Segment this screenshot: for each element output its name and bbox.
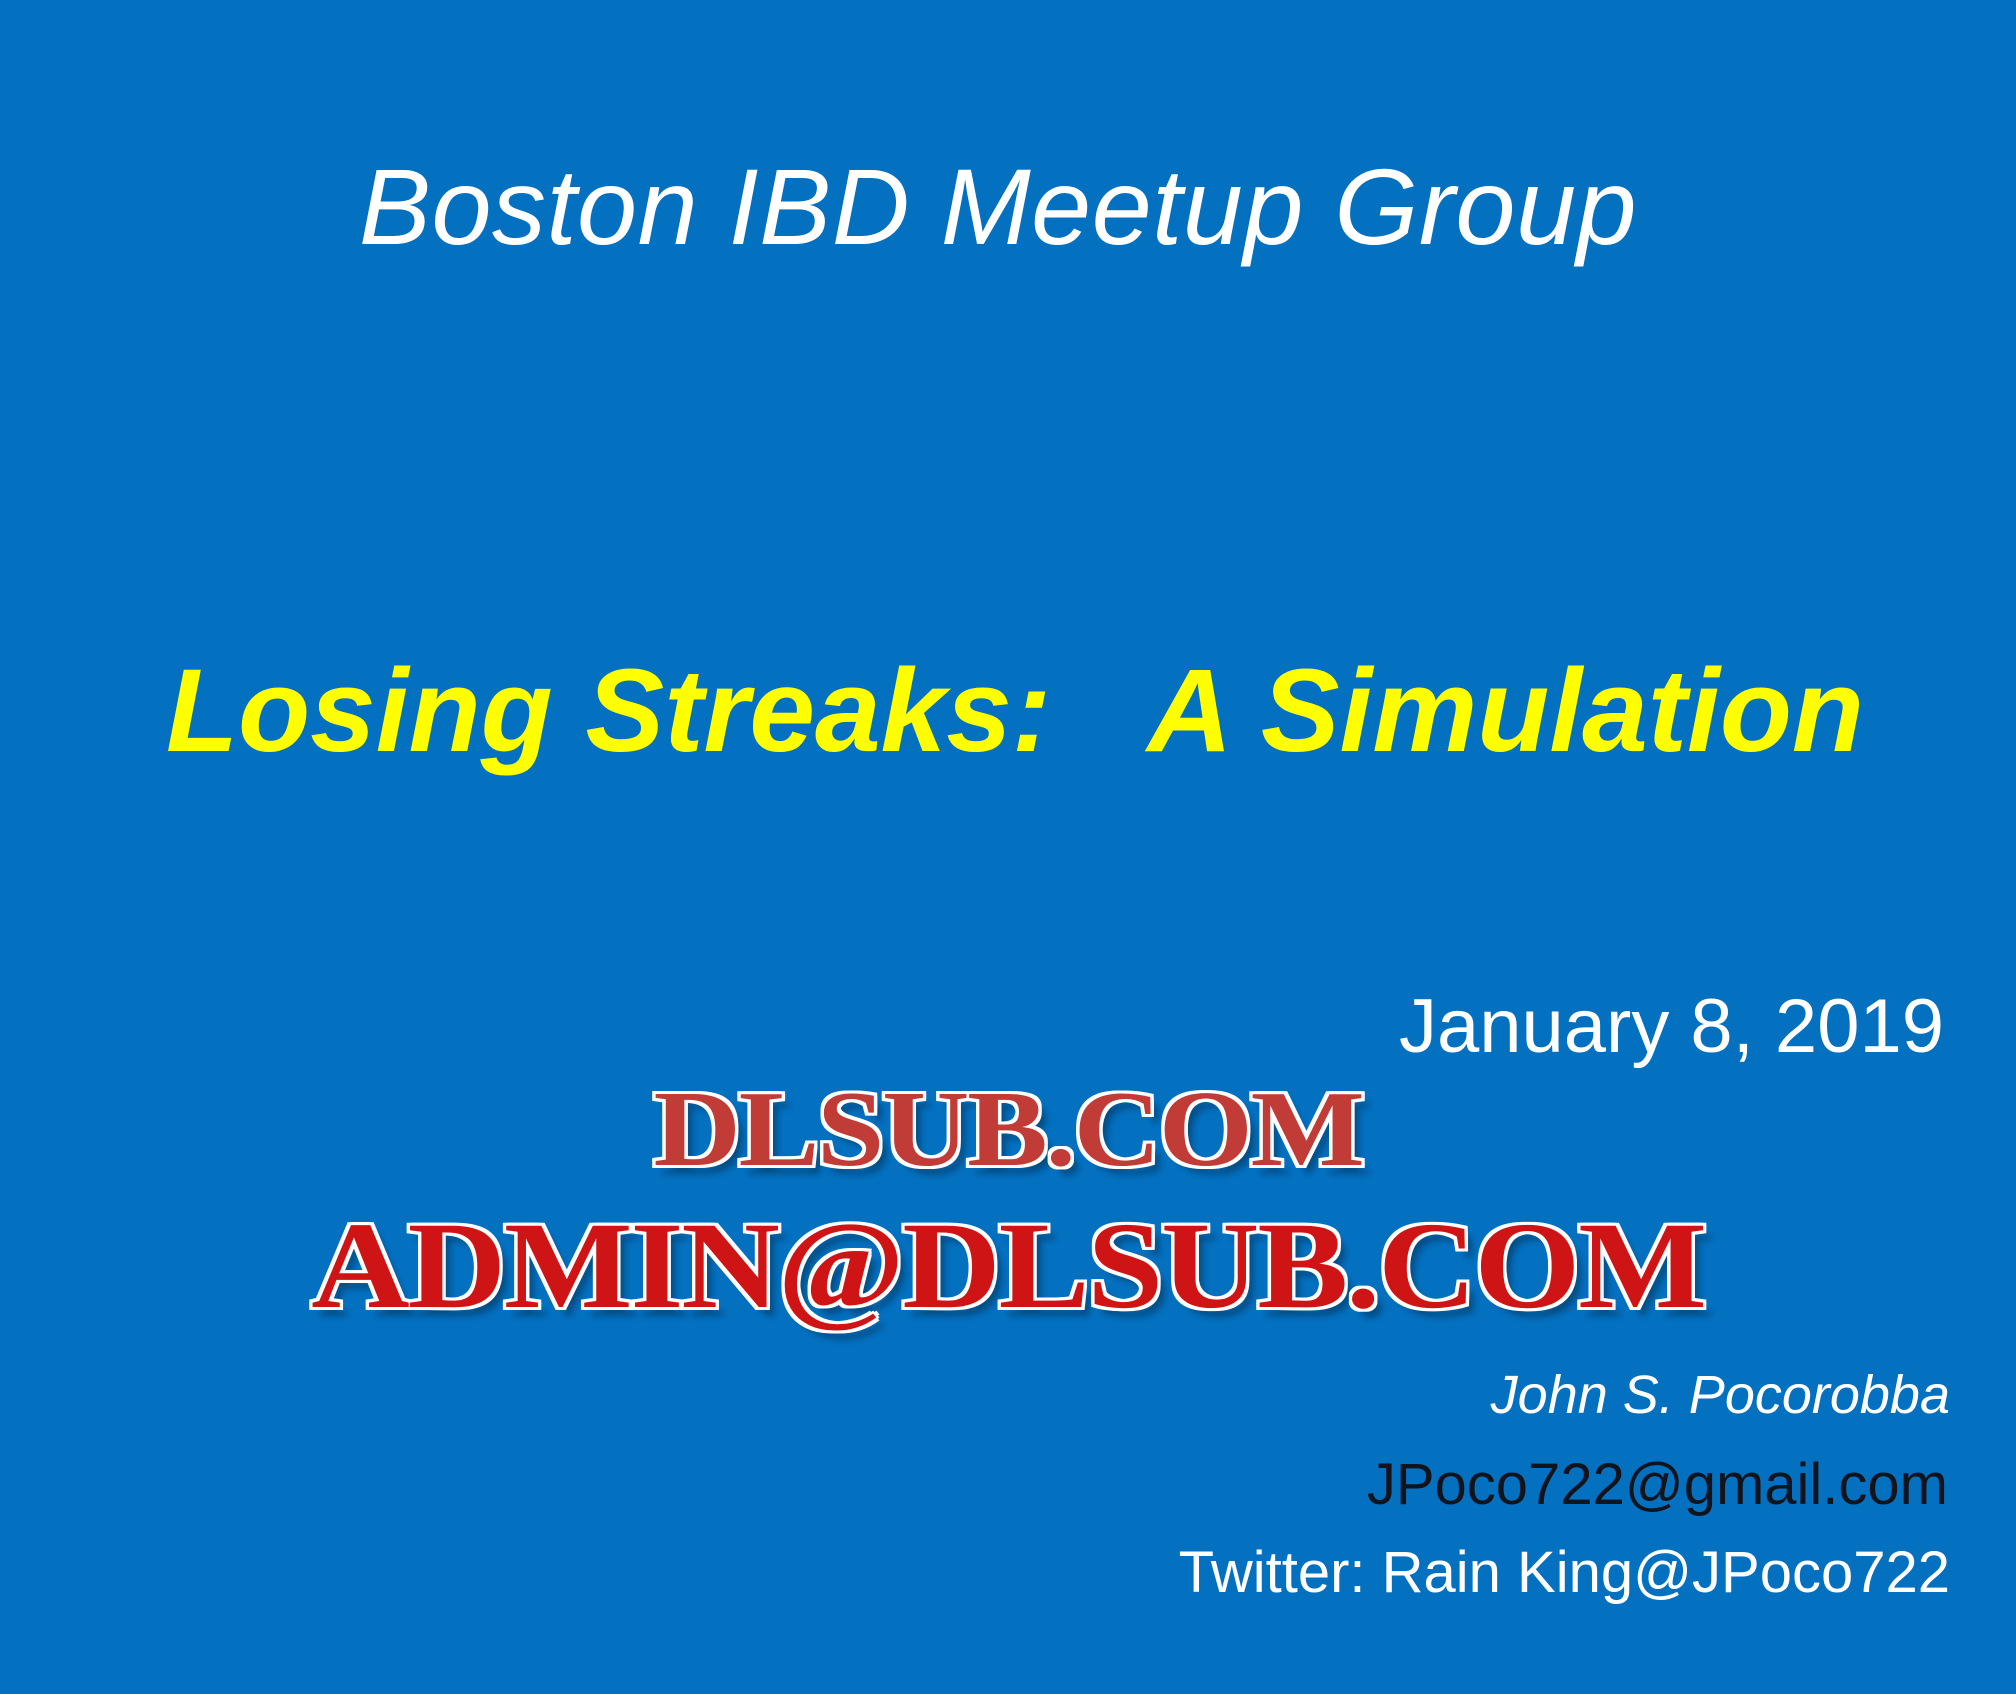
presentation-title: Losing Streaks:A Simulation — [0, 650, 2016, 774]
faint-background-artifact — [400, 838, 1120, 878]
watermark-contact-email: ADMIN@DLSUB.COM — [0, 1195, 2016, 1337]
author-email[interactable]: JPoco722@gmail.com — [1179, 1456, 1948, 1514]
presentation-title-part2: A Simulation — [1147, 645, 1864, 777]
presentation-title-part1: Losing Streaks: — [166, 645, 1051, 777]
group-title: Boston IBD Meetup Group — [0, 150, 2016, 263]
title-slide: Boston IBD Meetup Group Losing Streaks:A… — [0, 0, 2016, 1694]
presentation-date: January 8, 2019 — [1399, 985, 1944, 1069]
watermark-site-url: DLSUB.COM — [0, 1068, 2016, 1192]
contact-block: John S. Pocorobba JPoco722@gmail.com Twi… — [1179, 1368, 1950, 1602]
author-twitter: Twitter: Rain King@JPoco722 — [1179, 1544, 1950, 1602]
author-name: John S. Pocorobba — [1179, 1368, 1950, 1422]
